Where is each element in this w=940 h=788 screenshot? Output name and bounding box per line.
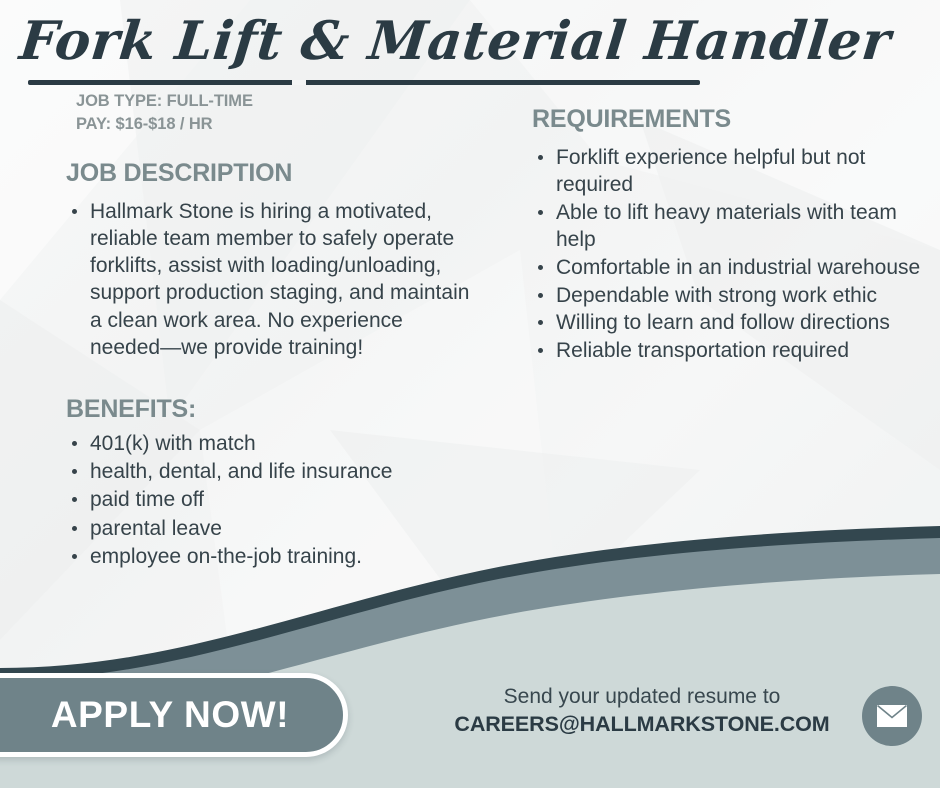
title-underline: [28, 80, 700, 85]
left-column: JOB DESCRIPTION Hallmark Stone is hiring…: [66, 160, 476, 571]
job-description-list: Hallmark Stone is hiring a motivated, re…: [66, 198, 476, 362]
job-description-heading: JOB DESCRIPTION: [66, 160, 476, 188]
list-item: Dependable with strong work ethic: [532, 282, 924, 310]
list-item: employee on-the-job training.: [66, 543, 476, 570]
list-item: parental leave: [66, 515, 476, 542]
contact-block: Send your updated resume to CAREERS@HALL…: [432, 684, 852, 738]
benefits-list: 401(k) with match health, dental, and li…: [66, 430, 476, 570]
poster-title-block: Fork Lift & Material Handler: [20, 14, 720, 68]
requirements-heading: REQUIREMENTS: [532, 106, 924, 134]
list-item: Reliable transportation required: [532, 337, 924, 365]
list-item: Hallmark Stone is hiring a motivated, re…: [66, 198, 476, 362]
list-item: 401(k) with match: [66, 430, 476, 457]
pay-label: PAY: $16-$18 / HR: [76, 113, 253, 136]
contact-email[interactable]: CAREERS@HALLMARKSTONE.COM: [432, 711, 852, 739]
apply-now-label: APPLY NOW!: [17, 694, 289, 736]
job-type-label: JOB TYPE: FULL-TIME: [76, 90, 253, 113]
list-item: health, dental, and life insurance: [66, 458, 476, 485]
benefits-heading: BENEFITS:: [66, 396, 476, 424]
column-spacer: [66, 362, 476, 396]
requirements-list: Forklift experience helpful but not requ…: [532, 144, 924, 365]
right-column: REQUIREMENTS Forklift experience helpful…: [532, 106, 924, 364]
envelope-icon: [862, 686, 922, 746]
title-underline-gap: [292, 80, 306, 85]
apply-now-button[interactable]: APPLY NOW!: [0, 673, 348, 757]
page-title: Fork Lift & Material Handler: [17, 14, 723, 68]
list-item: Forklift experience helpful but not requ…: [532, 144, 924, 199]
envelope-glyph: [877, 705, 907, 727]
job-poster: Fork Lift & Material Handler JOB TYPE: F…: [0, 0, 940, 788]
list-item: paid time off: [66, 486, 476, 513]
job-meta: JOB TYPE: FULL-TIME PAY: $16-$18 / HR: [76, 90, 253, 137]
list-item: Able to lift heavy materials with team h…: [532, 199, 924, 254]
list-item: Comfortable in an industrial warehouse: [532, 254, 924, 282]
list-item: Willing to learn and follow directions: [532, 309, 924, 337]
contact-instruction: Send your updated resume to: [432, 684, 852, 711]
